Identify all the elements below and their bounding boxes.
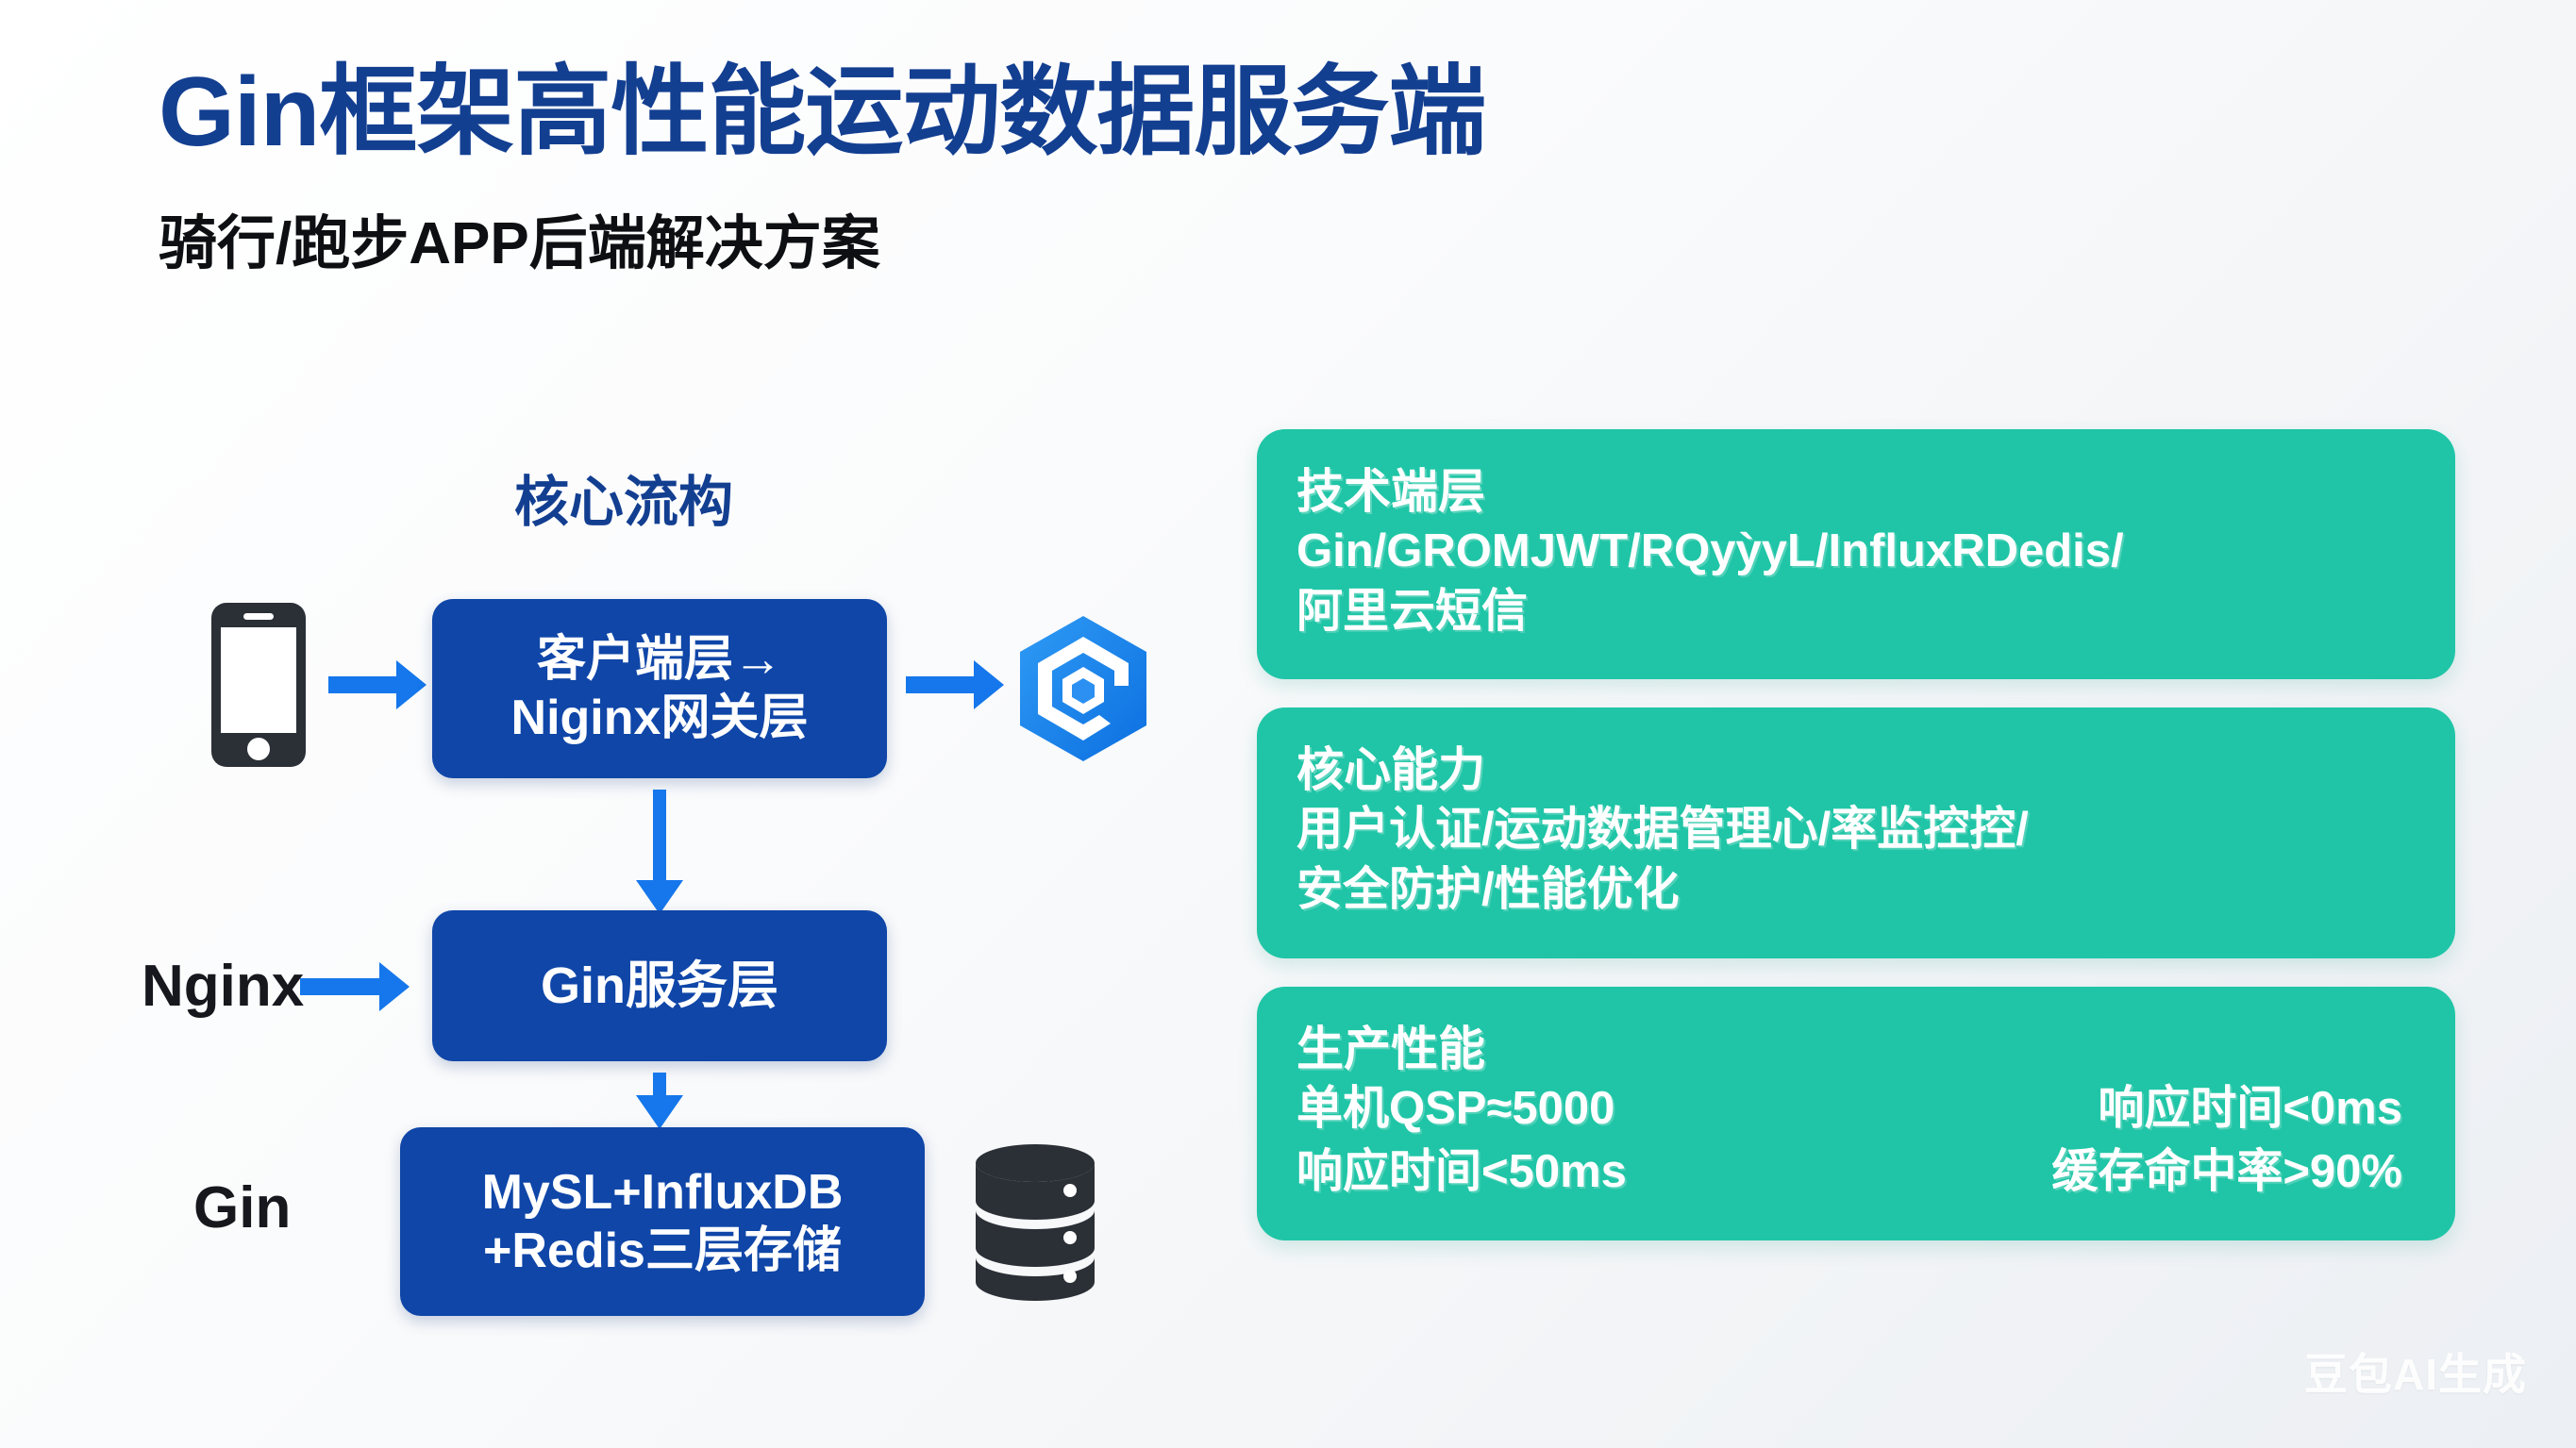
hexagon-gateway-icon: [1005, 610, 1162, 767]
arrow-phone-to-client: [328, 676, 398, 693]
node-client-gateway-text: 客户端层→ Niginx网关层: [511, 630, 809, 748]
node-client-gateway-line2: Niginx网关层: [511, 691, 809, 745]
arrow-gin-to-storage: [653, 1073, 666, 1097]
watermark: 豆包AI生成: [2304, 1340, 2527, 1403]
page-title: Gin框架高性能运动数据服务端: [159, 55, 1485, 171]
database-cylinder-icon: [964, 1139, 1106, 1307]
smartphone-icon: [209, 601, 308, 769]
info-panels: 技术端层 Gin/GROMJWT/RQyỳyL/InfluxRDedis/ 阿里…: [1257, 429, 2455, 1269]
arrow-client-to-gin: [653, 790, 666, 882]
node-client-gateway[interactable]: 客户端层→ Niginx网关层: [432, 599, 887, 778]
node-storage-line2: +Redis三层存储: [483, 1223, 842, 1278]
panel-core-capability-title: 核心能力: [1296, 740, 2416, 800]
node-client-gateway-line1: 客户端层→: [537, 632, 782, 687]
arrow-nginx-to-gin: [300, 978, 381, 995]
arrow-client-to-gateway-icon: [906, 676, 976, 693]
label-gin: Gin: [193, 1174, 291, 1241]
panel-tech-stack-line-1: Gin/GROMJWT/RQyỳyL/InfluxRDedis/: [1296, 522, 2416, 582]
node-gin-service[interactable]: Gin服务层: [432, 910, 887, 1061]
panel-production-performance[interactable]: 生产性能 单机QSP≈5000 响应时间<0ms 响应时间<50ms 缓存命中率…: [1257, 987, 2455, 1240]
label-nginx: Nginx: [142, 953, 304, 1020]
panel-tech-stack-title: 技术端层: [1296, 461, 2416, 522]
page-header: Gin框架高性能运动数据服务端 骑行/跑步APP后端解决方案: [159, 55, 1485, 280]
node-gin-service-text: Gin服务层: [541, 956, 778, 1017]
metric-qps: 单机QSP≈5000: [1296, 1079, 1900, 1140]
page-subtitle: 骑行/跑步APP后端解决方案: [159, 195, 1485, 280]
diagram-heading: 核心流构: [514, 458, 733, 537]
node-storage-text: MySL+InfluxDB +Redis三层存储: [482, 1163, 844, 1281]
panel-production-performance-title: 生产性能: [1296, 1019, 2416, 1079]
node-storage[interactable]: MySL+InfluxDB +Redis三层存储: [400, 1127, 925, 1316]
metric-response-time-min: 响应时间<0ms: [1900, 1079, 2416, 1140]
node-storage-line1: MySL+InfluxDB: [482, 1165, 844, 1220]
panel-core-capability[interactable]: 核心能力 用户认证/运动数据管理心/率监控控/ 安全防护/性能优化: [1257, 707, 2455, 957]
performance-metrics-grid: 单机QSP≈5000 响应时间<0ms 响应时间<50ms 缓存命中率>90%: [1296, 1079, 2416, 1203]
architecture-diagram: 核心流构 客户端层→ Niginx网关层: [0, 429, 1208, 1373]
panel-tech-stack-line-2: 阿里云短信: [1296, 582, 2416, 642]
panel-core-capability-line-1: 用户认证/运动数据管理心/率监控控/: [1296, 800, 2416, 860]
metric-cache-hit-rate: 缓存命中率>90%: [1900, 1142, 2416, 1203]
panel-core-capability-line-2: 安全防护/性能优化: [1296, 860, 2416, 921]
panel-tech-stack[interactable]: 技术端层 Gin/GROMJWT/RQyỳyL/InfluxRDedis/ 阿里…: [1257, 429, 2455, 679]
metric-response-time: 响应时间<50ms: [1296, 1142, 1900, 1203]
